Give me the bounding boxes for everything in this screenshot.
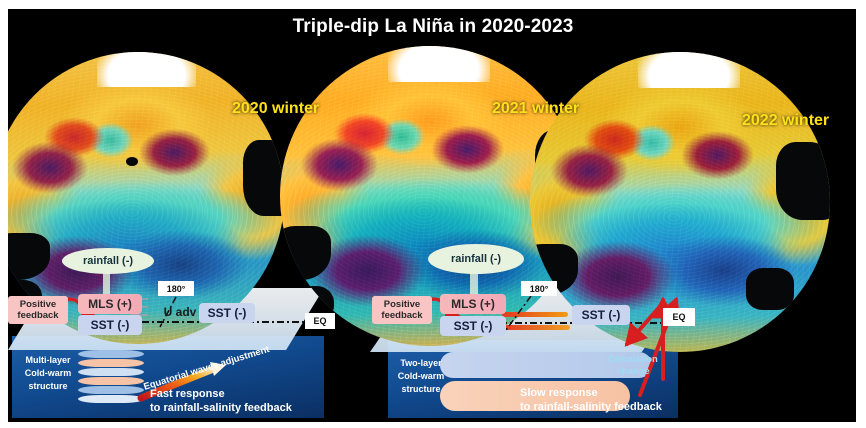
- page-edge-top: [0, 0, 866, 9]
- right-equator-label: EQ: [663, 308, 695, 326]
- right-sst-far-box: SST (-): [572, 305, 630, 325]
- right-positive-feedback-line1: Positive: [384, 299, 420, 310]
- right-structure-line3: structure: [401, 383, 440, 396]
- left-layer-5: [78, 386, 144, 394]
- left-positive-feedback-line2: feedback: [17, 310, 58, 321]
- right-structure-line2: Cold-warm: [398, 370, 445, 383]
- left-sst-far-box: SST (-): [199, 303, 255, 323]
- right-response-label: Slow response to rainfall-salinity feedb…: [520, 385, 702, 415]
- left-response-line1: Fast response: [150, 387, 225, 401]
- left-structure-line1: Multi-layer: [25, 354, 70, 367]
- rainfall-label-right: rainfall (-): [428, 244, 524, 274]
- right-structure-label: Two-layer Cold-warm structure: [392, 355, 450, 397]
- figure-root: 2020 winter 2021 winter 2022 winter rain…: [0, 0, 866, 428]
- left-equator-label: EQ: [305, 313, 335, 329]
- left-layer-1: [78, 350, 144, 358]
- right-response-line2: to rainfall-salinity feedback: [520, 400, 662, 414]
- left-response-label: Fast response to rainfall-salinity feedb…: [150, 386, 320, 416]
- left-layer-2: [78, 359, 144, 367]
- right-circulation-label: Circulation change: [600, 352, 666, 380]
- left-structure-line2: Cold-warm: [25, 367, 72, 380]
- right-meridian-label: 180°: [521, 281, 557, 296]
- right-response-line1: Slow response: [520, 386, 598, 400]
- left-structure-label: Multi-layer Cold-warm structure: [20, 352, 76, 394]
- right-sst-near-box: SST (-): [440, 316, 506, 336]
- left-meridian-label: 180°: [158, 281, 194, 296]
- right-positive-feedback-line2: feedback: [381, 310, 422, 321]
- figure-title: Triple-dip La Niña in 2020-2023: [0, 16, 866, 38]
- left-layer-3: [78, 368, 144, 376]
- right-mls-box: MLS (+): [440, 294, 506, 314]
- right-structure-line1: Two-layer: [400, 357, 441, 370]
- left-response-line2: to rainfall-salinity feedback: [150, 401, 292, 415]
- year-label-2022: 2022 winter: [742, 112, 829, 130]
- left-layer-4: [78, 377, 144, 385]
- left-positive-feedback-box: Positive feedback: [8, 296, 68, 324]
- right-circulation-line1: Circulation: [608, 354, 658, 366]
- right-circulation-line2: change: [616, 366, 649, 378]
- left-mls-box: MLS (+): [78, 294, 142, 314]
- rainfall-label-left: rainfall (-): [62, 248, 154, 274]
- right-current-bar-upper: [502, 312, 568, 317]
- left-layer-6: [78, 395, 144, 403]
- year-label-2020: 2020 winter: [232, 100, 319, 118]
- right-positive-feedback-box: Positive feedback: [372, 296, 432, 324]
- right-current-bar-lower: [504, 325, 570, 330]
- left-structure-line3: structure: [28, 380, 67, 393]
- page-edge-left: [0, 0, 8, 428]
- year-label-2021: 2021 winter: [492, 100, 579, 118]
- left-positive-feedback-line1: Positive: [20, 299, 56, 310]
- page-edge-bottom: [0, 422, 866, 428]
- left-sst-near-box: SST (-): [78, 315, 142, 335]
- page-edge-right: [856, 0, 866, 428]
